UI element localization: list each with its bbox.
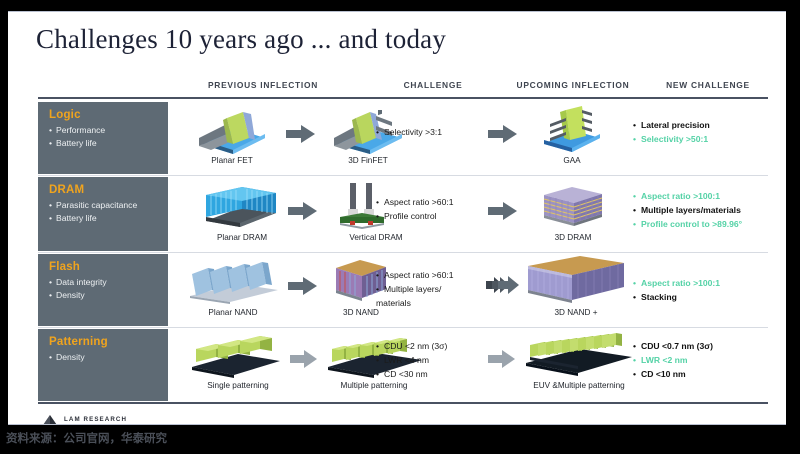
logo-wordmark: LAM RESEARCH	[64, 416, 127, 423]
figure-caption: Planar FET	[186, 156, 278, 165]
table-row-patterning: Patterning Density	[38, 329, 768, 401]
arrow-icon	[488, 124, 518, 144]
source-caption: 资料来源：公司官网，华泰研究	[6, 430, 167, 446]
new-challenge-item: Aspect ratio >100:1	[633, 276, 720, 290]
figure-caption: Planar DRAM	[190, 233, 294, 242]
bottom-rule	[38, 402, 768, 404]
header-divider	[38, 97, 768, 99]
figure-caption: GAA	[536, 156, 608, 165]
figure-caption: 3D NAND +	[534, 308, 618, 317]
row-divider	[38, 175, 768, 176]
challenge-item: CD <30 nm	[376, 367, 447, 381]
screenshot-page: Challenges 10 years ago ... and today PR…	[0, 0, 800, 454]
challenge-list: Selectivity >3:1	[376, 125, 442, 139]
challenge-item: Multiple layers/ materials	[376, 282, 464, 310]
new-challenge-item: Stacking	[633, 290, 720, 304]
challenge-item: Profile control	[376, 209, 454, 223]
euv-patterning-icon	[520, 333, 636, 377]
planar-nand-icon	[186, 260, 282, 306]
new-challenge-item: Multiple layers/materials	[633, 203, 742, 217]
challenge-item: CDU <2 nm (3σ)	[376, 339, 447, 353]
category-title: Patterning	[49, 336, 168, 348]
3d-dram-icon	[538, 181, 608, 231]
new-challenge-list: Aspect ratio >100:1 Multiple layers/mate…	[633, 189, 742, 231]
gaa-icon	[536, 106, 608, 154]
category-driver: Parasitic capacitance	[49, 199, 168, 212]
arrow-icon	[288, 276, 318, 296]
new-challenge-item: Profile control to >89.96°	[633, 217, 742, 231]
table-row-logic: Logic Performance Battery life Planar FE…	[38, 102, 768, 174]
column-header-new-challenge: NEW CHALLENGE	[633, 80, 783, 90]
new-challenge-list: Aspect ratio >100:1 Stacking	[633, 276, 720, 304]
challenge-item: Aspect ratio >60:1	[376, 268, 464, 282]
challenge-item: Aspect ratio >60:1	[376, 195, 454, 209]
page-title: Challenges 10 years ago ... and today	[36, 24, 446, 55]
figure-caption: Planar NAND	[180, 308, 286, 317]
figure-caption: Multiple patterning	[310, 381, 438, 390]
planar-fet-icon	[193, 112, 271, 156]
lam-triangle-icon	[40, 415, 60, 425]
category-title: Flash	[49, 261, 168, 273]
category-driver: Performance	[49, 124, 168, 137]
new-challenge-item: CDU <0.7 nm (3σ)	[633, 339, 713, 353]
column-header-previous-inflection: PREVIOUS INFLECTION	[168, 80, 358, 90]
new-challenge-item: Aspect ratio >100:1	[633, 189, 742, 203]
row-divider	[38, 327, 768, 328]
single-patterning-icon	[188, 335, 284, 379]
challenge-list: Aspect ratio >60:1 Multiple layers/ mate…	[376, 268, 464, 310]
3d-nand-plus-icon	[520, 254, 630, 306]
arrow-icon	[290, 349, 318, 369]
challenge-item: Selectivity >3:1	[376, 125, 442, 139]
challenge-list: CDU <2 nm (3σ) LWR <4 nm CD <30 nm	[376, 339, 447, 381]
new-challenge-item: CD <10 nm	[633, 367, 713, 381]
new-challenge-item: Lateral precision	[633, 118, 710, 132]
category-cell-dram: DRAM Parasitic capacitance Battery life	[38, 177, 168, 251]
new-challenge-list: Lateral precision Selectivity >50:1	[633, 118, 710, 146]
new-challenge-item: Selectivity >50:1	[633, 132, 710, 146]
table-row-dram: DRAM Parasitic capacitance Battery life	[38, 177, 768, 251]
figure-caption: Single patterning	[182, 381, 294, 390]
category-driver: Density	[49, 289, 168, 302]
figure-caption: Vertical DRAM	[320, 233, 432, 242]
category-cell-logic: Logic Performance Battery life	[38, 102, 168, 174]
arrow-icon	[488, 201, 518, 221]
slide-card: Challenges 10 years ago ... and today PR…	[8, 11, 786, 425]
new-challenge-list: CDU <0.7 nm (3σ) LWR <2 nm CD <10 nm	[633, 339, 713, 381]
category-driver: Data integrity	[49, 276, 168, 289]
planar-dram-icon	[200, 183, 282, 231]
challenge-list: Aspect ratio >60:1 Profile control	[376, 195, 454, 223]
category-cell-patterning: Patterning Density	[38, 329, 168, 401]
category-driver: Density	[49, 351, 168, 364]
arrow-icon	[288, 201, 318, 221]
table-row-flash: Flash Data integrity Density	[38, 254, 768, 326]
row-divider	[38, 252, 768, 253]
figure-caption: 3D FinFET	[316, 156, 420, 165]
challenge-item: LWR <4 nm	[376, 353, 447, 367]
category-driver: Battery life	[49, 212, 168, 225]
figure-caption: EUV &Multiple patterning	[506, 381, 652, 390]
lam-research-logo: LAM RESEARCH CDU= CD uniformity	[38, 414, 278, 425]
column-headers: PREVIOUS INFLECTION CHALLENGE UPCOMING I…	[8, 80, 786, 100]
arrow-icon	[488, 349, 516, 369]
category-title: DRAM	[49, 184, 168, 196]
column-header-challenge: CHALLENGE	[373, 80, 493, 90]
category-title: Logic	[49, 109, 168, 121]
stacked-arrow-icon	[486, 274, 520, 298]
figure-caption: 3D DRAM	[536, 233, 610, 242]
new-challenge-item: LWR <2 nm	[633, 353, 713, 367]
category-driver: Battery life	[49, 137, 168, 150]
category-cell-flash: Flash Data integrity Density	[38, 254, 168, 326]
arrow-icon	[286, 124, 316, 144]
